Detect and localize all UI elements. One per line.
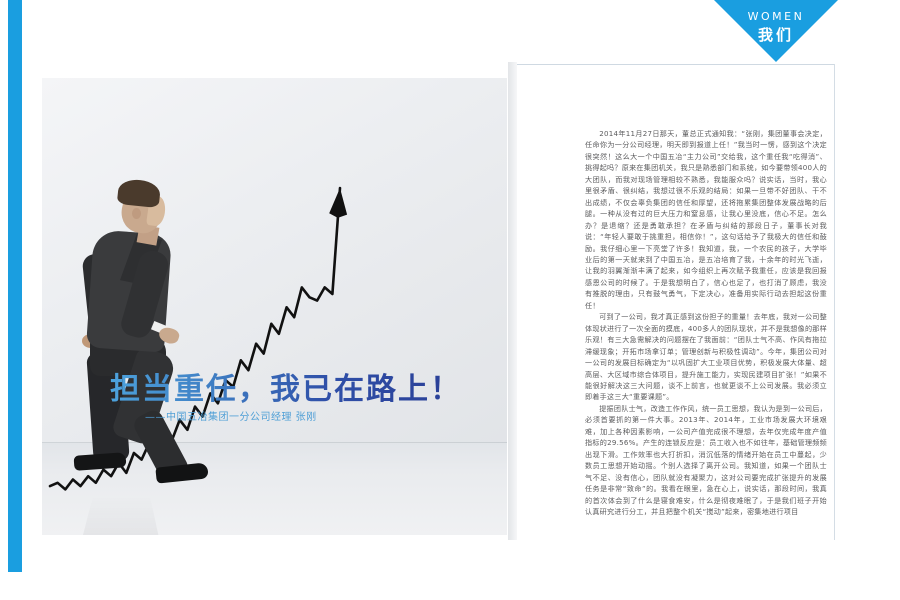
corner-tab-english: WOMEN (714, 10, 838, 23)
left-edge-bar (8, 0, 22, 572)
left-photo-page: 担当重任，我已在路上！ ——中国五冶集团一分公司经理 张刚 (42, 78, 507, 535)
page-title: 担当重任，我已在路上！ (110, 364, 462, 408)
ear (132, 208, 141, 219)
businessman-figure (60, 138, 210, 503)
back-shoe (74, 452, 127, 471)
hair (117, 178, 161, 208)
magazine-spread: WOMEN 我们 (0, 0, 900, 600)
right-rule (834, 64, 835, 540)
article-body: 2014年11月27日那天，董总正式通知我：“张刚，集团董事会决定，任命你为一分… (585, 128, 827, 517)
corner-tab: WOMEN 我们 (714, 0, 838, 62)
byline: ——中国五冶集团一分公司经理 张刚 (145, 408, 317, 423)
top-rule (517, 64, 835, 65)
article-paragraph: 可到了一公司，我才真正感到这份担子的重量！去年底，我对一公司整体现状进行了一次全… (585, 311, 827, 403)
corner-tab-chinese: 我们 (714, 24, 838, 45)
article-paragraph: 提振团队士气，改造工作作风，统一员工思想，我认为是到一公司后，必须首要抓的第一件… (585, 403, 827, 518)
article-paragraph: 2014年11月27日那天，董总正式通知我：“张刚，集团董事会决定，任命你为一分… (585, 128, 827, 311)
page-gutter (508, 62, 517, 540)
